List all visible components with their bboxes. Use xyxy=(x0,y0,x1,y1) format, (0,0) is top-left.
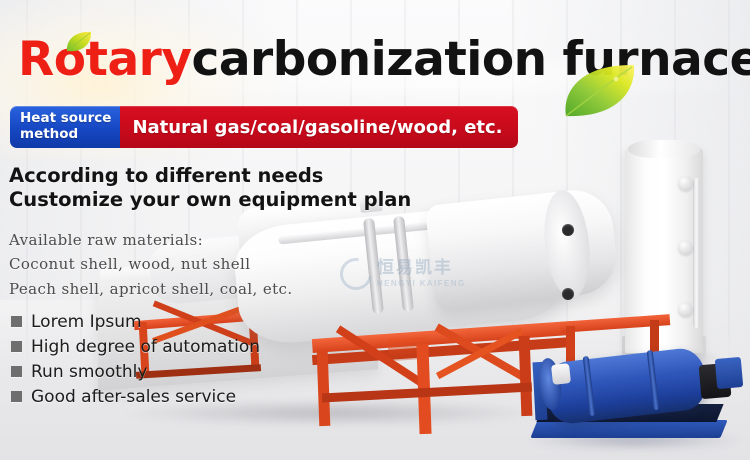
page-title: Rotarycarbonization furnace xyxy=(18,36,750,83)
carbonizer-base xyxy=(530,420,727,438)
list-item: Good after-sales service xyxy=(11,384,260,409)
kiln-inspection-port xyxy=(562,288,574,300)
product-banner: 恒易凯丰 HENGYI KAIFENG Rotarycarbonization … xyxy=(0,0,750,460)
heat-source-label: Heat source method xyxy=(10,106,120,148)
feature-label: Good after-sales service xyxy=(31,387,236,407)
raw-materials-line-2: Coconut shell, wood, nut shell xyxy=(9,252,293,276)
heat-source-value-text: Natural gas/coal/gasoline/wood, etc. xyxy=(132,117,502,138)
scrubber-tower-cap xyxy=(628,140,700,158)
bullet-square-icon xyxy=(11,341,22,352)
rotary-kiln-tube xyxy=(425,186,620,310)
tower-flange xyxy=(678,302,693,317)
title-rest: carbonization furnace xyxy=(191,32,750,87)
feature-list: Lorem Ipsum High degree of automation Ru… xyxy=(11,309,260,409)
feature-label: Run smoothly xyxy=(31,362,147,382)
carbonizer-drive-housing xyxy=(715,357,744,389)
raw-materials-line-3: Peach shell, apricot shell, coal, etc. xyxy=(9,277,293,301)
title-highlight: Rotary xyxy=(18,32,191,87)
tower-flange xyxy=(678,240,693,255)
bullet-square-icon xyxy=(11,391,22,402)
headline-line-2: Customize your own equipment plan xyxy=(9,188,411,212)
list-item: Run smoothly xyxy=(11,359,260,384)
list-item: High degree of automation xyxy=(11,334,260,359)
bullet-square-icon xyxy=(11,316,22,327)
heat-source-label-line1: Heat source xyxy=(20,111,111,127)
heat-source-value: Natural gas/coal/gasoline/wood, etc. xyxy=(120,106,517,148)
list-item: Lorem Ipsum xyxy=(11,309,260,334)
tower-side-pipe xyxy=(693,178,700,328)
kiln-inspection-port xyxy=(562,224,574,236)
headline: According to different needs Customize y… xyxy=(9,164,411,213)
tower-flange xyxy=(678,176,693,191)
feature-label: Lorem Ipsum xyxy=(31,312,142,332)
bullet-square-icon xyxy=(11,366,22,377)
raw-materials-block: Available raw materials: Coconut shell, … xyxy=(9,228,293,301)
heat-source-label-line2: method xyxy=(20,127,111,143)
heat-source-badge: Heat source method Natural gas/coal/gaso… xyxy=(10,106,518,148)
carbonizer-gearbox xyxy=(551,363,571,385)
feature-label: High degree of automation xyxy=(31,337,260,357)
headline-line-1: According to different needs xyxy=(9,164,411,188)
raw-materials-title: Available raw materials: xyxy=(9,228,293,252)
